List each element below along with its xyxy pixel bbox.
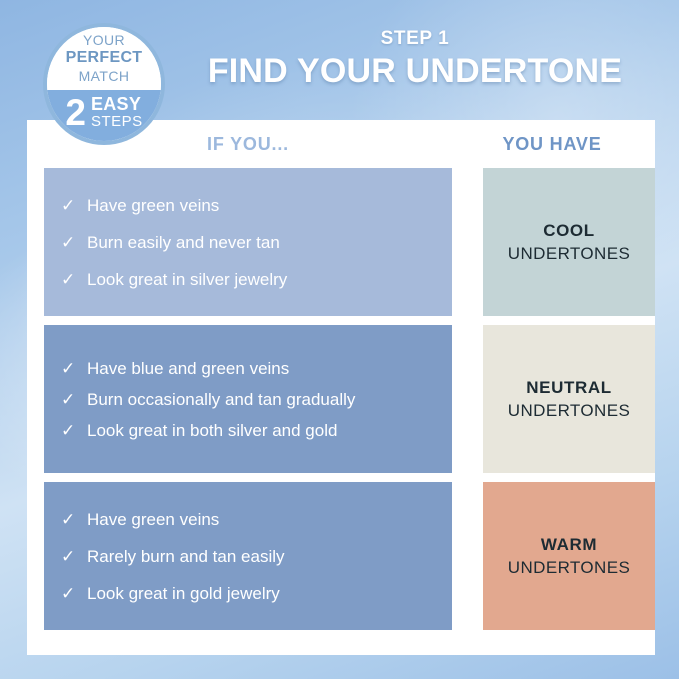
result-swatch-warm: WARM UNDERTONES <box>483 482 655 630</box>
step-label: STEP 1 <box>175 28 655 50</box>
result-name: COOL <box>543 219 595 242</box>
trait-text: Burn occasionally and tan gradually <box>87 388 438 411</box>
trait-text: Have blue and green veins <box>87 357 438 380</box>
badge-line-perfect: PERFECT <box>66 49 143 68</box>
badge-line-your: YOUR <box>83 32 125 49</box>
result-subtitle: UNDERTONES <box>508 242 630 265</box>
check-icon: ✓ <box>61 582 87 605</box>
traits-block-warm: ✓ Have green veins ✓ Rarely burn and tan… <box>44 482 452 630</box>
list-item: ✓ Have green veins <box>61 501 438 538</box>
column-header-you-have: YOU HAVE <box>466 134 638 155</box>
trait-text: Look great in both silver and gold <box>87 419 438 442</box>
list-item: ✓ Have green veins <box>61 187 438 224</box>
result-name: WARM <box>541 533 597 556</box>
table-row: ✓ Have green veins ✓ Burn easily and nev… <box>44 168 655 316</box>
check-icon: ✓ <box>61 508 87 531</box>
list-item: ✓ Burn easily and never tan <box>61 224 438 261</box>
list-item: ✓ Look great in both silver and gold <box>61 415 438 446</box>
badge-label-easy: EASY <box>91 96 143 113</box>
list-item: ✓ Rarely burn and tan easily <box>61 538 438 575</box>
traits-block-neutral: ✓ Have blue and green veins ✓ Burn occas… <box>44 325 452 473</box>
trait-text: Look great in gold jewelry <box>87 582 438 605</box>
list-item: ✓ Burn occasionally and tan gradually <box>61 384 438 415</box>
trait-text: Rarely burn and tan easily <box>87 545 438 568</box>
check-icon: ✓ <box>61 194 87 217</box>
badge-steps-stack: EASY STEPS <box>91 93 143 130</box>
table-row: ✓ Have blue and green veins ✓ Burn occas… <box>44 325 655 473</box>
result-subtitle: UNDERTONES <box>508 556 630 579</box>
check-icon: ✓ <box>61 545 87 568</box>
badge-step-count: 2 <box>65 93 86 133</box>
list-item: ✓ Look great in gold jewelry <box>61 575 438 612</box>
trait-text: Look great in silver jewelry <box>87 268 438 291</box>
check-icon: ✓ <box>61 388 87 411</box>
result-swatch-neutral: NEUTRAL UNDERTONES <box>483 325 655 473</box>
check-icon: ✓ <box>61 357 87 380</box>
trait-text: Have green veins <box>87 508 438 531</box>
page-title: FIND YOUR UNDERTONE <box>175 51 655 91</box>
check-icon: ✓ <box>61 231 87 254</box>
trait-text: Have green veins <box>87 194 438 217</box>
trait-text: Burn easily and never tan <box>87 231 438 254</box>
title-block: STEP 1 FIND YOUR UNDERTONE <box>175 28 655 91</box>
list-item: ✓ Have blue and green veins <box>61 353 438 384</box>
badge-label-steps: STEPS <box>91 113 143 130</box>
list-item: ✓ Look great in silver jewelry <box>61 261 438 298</box>
check-icon: ✓ <box>61 419 87 442</box>
perfect-match-badge: YOUR PERFECT MATCH 2 EASY STEPS <box>43 23 165 145</box>
badge-top-half: YOUR PERFECT MATCH <box>47 27 161 90</box>
table-row: ✓ Have green veins ✓ Rarely burn and tan… <box>44 482 655 630</box>
badge-bottom-half: 2 EASY STEPS <box>47 90 161 141</box>
undertone-infographic: STEP 1 FIND YOUR UNDERTONE YOUR PERFECT … <box>0 0 679 679</box>
content-card: IF YOU... YOU HAVE ✓ Have green veins ✓ … <box>27 120 655 655</box>
result-name: NEUTRAL <box>526 376 611 399</box>
badge-line-match: MATCH <box>79 68 130 85</box>
check-icon: ✓ <box>61 268 87 291</box>
result-subtitle: UNDERTONES <box>508 399 630 422</box>
result-swatch-cool: COOL UNDERTONES <box>483 168 655 316</box>
traits-block-cool: ✓ Have green veins ✓ Burn easily and nev… <box>44 168 452 316</box>
